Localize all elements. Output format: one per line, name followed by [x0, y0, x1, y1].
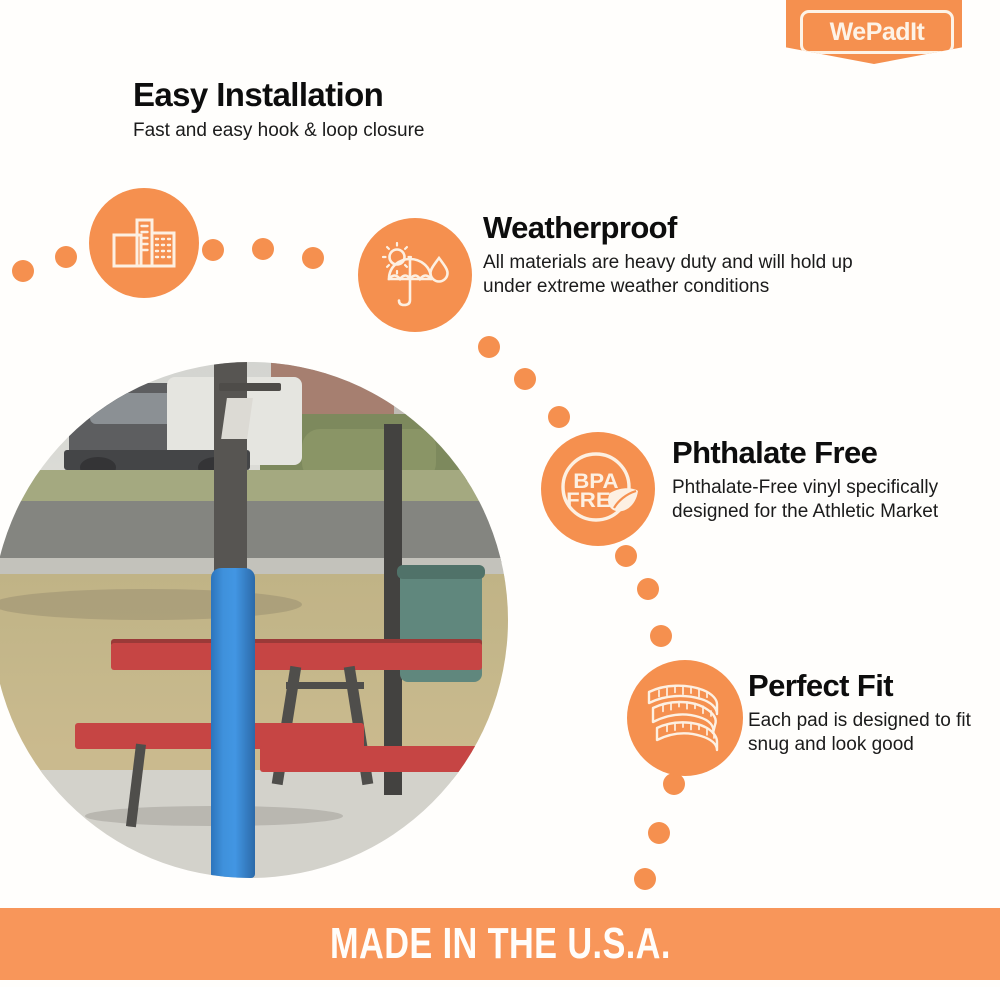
- trail-dot: [637, 578, 659, 600]
- brand-logo-it: It: [910, 18, 924, 46]
- feature-description: Each pad is designed to fit snug and loo…: [748, 709, 988, 758]
- feature-phthalate-free: Phthalate Free Phthalate-Free vinyl spec…: [672, 437, 982, 525]
- brand-logo-pad: Pad: [866, 18, 910, 46]
- trail-dot: [650, 625, 672, 647]
- trail-dot: [648, 822, 670, 844]
- building-icon: [89, 188, 199, 298]
- bpa-free-leaf-icon: BPA FREE: [541, 432, 655, 546]
- measuring-tape-icon: [627, 660, 743, 776]
- feature-description: All materials are heavy duty and will ho…: [483, 251, 903, 300]
- umbrella-sun-raindrop-icon: [358, 218, 472, 332]
- feature-title: Phthalate Free: [672, 437, 982, 470]
- trail-dot: [252, 238, 274, 260]
- trail-dot: [548, 406, 570, 428]
- trail-dot: [663, 773, 685, 795]
- trail-dot: [634, 868, 656, 890]
- feature-title: Perfect Fit: [748, 670, 988, 703]
- feature-easy-installation: Easy Installation Fast and easy hook & l…: [133, 78, 593, 143]
- feature-perfect-fit: Perfect Fit Each pad is designed to fit …: [748, 670, 988, 758]
- brand-logo-we: We: [830, 18, 866, 46]
- feature-title: Easy Installation: [133, 78, 593, 113]
- trail-dot: [202, 239, 224, 261]
- made-in-usa-text: MADE IN THE U.S.A.: [330, 922, 671, 966]
- brand-logo-frame: WePadIt: [800, 10, 954, 54]
- feature-description: Fast and easy hook & loop closure: [133, 119, 593, 144]
- feature-description: Phthalate-Free vinyl specifically design…: [672, 476, 982, 525]
- brand-logo-banner: WePadIt: [786, 0, 962, 64]
- trail-dot: [615, 545, 637, 567]
- trail-dot: [514, 368, 536, 390]
- trail-dot: [12, 260, 34, 282]
- trail-dot: [478, 336, 500, 358]
- made-in-usa-banner: MADE IN THE U.S.A.: [0, 908, 1000, 980]
- feature-weatherproof: Weatherproof All materials are heavy dut…: [483, 212, 903, 300]
- trail-dot: [55, 246, 77, 268]
- brand-logo-text: WePadIt: [830, 20, 925, 45]
- trail-dot: [302, 247, 324, 269]
- infographic-stage: WePadIt: [0, 0, 1000, 987]
- product-photo: [0, 362, 508, 878]
- feature-title: Weatherproof: [483, 212, 903, 245]
